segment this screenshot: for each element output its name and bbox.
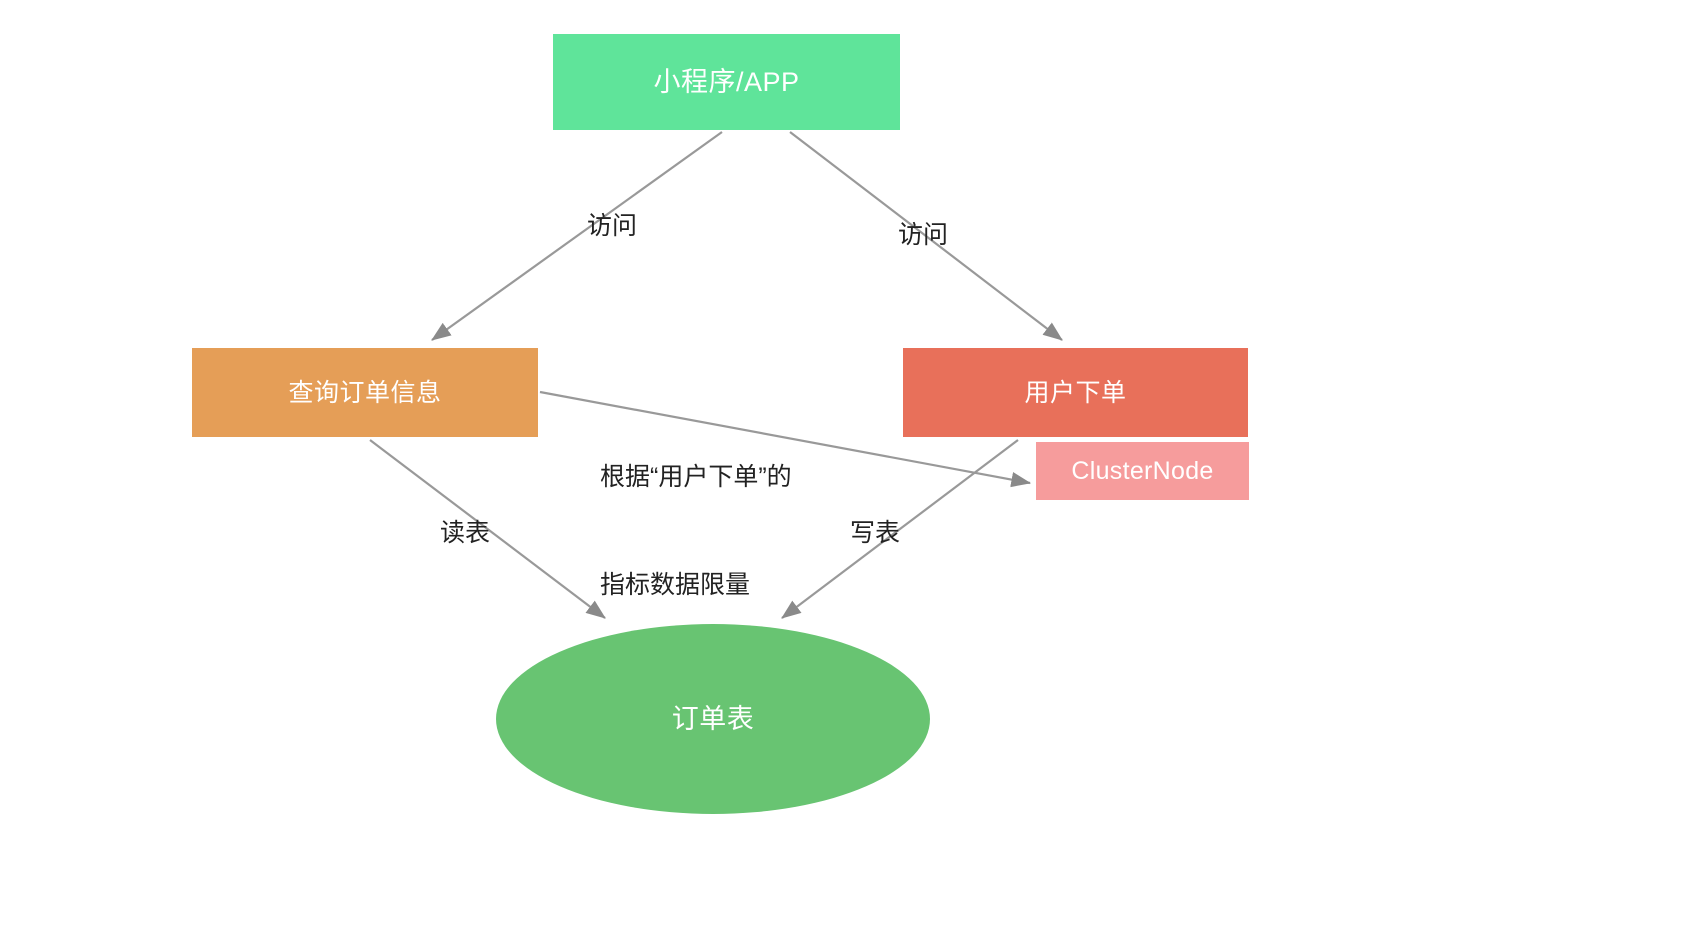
node-cluster-node[interactable]: ClusterNode bbox=[1036, 442, 1249, 500]
edge-app-to-query bbox=[432, 132, 722, 340]
edge-label-line-1: 根据“用户下单”的 bbox=[600, 459, 792, 495]
edge-label-app-to-query: 访问 bbox=[587, 208, 637, 244]
edge-label-query-to-clusternode: 根据“用户下单”的 指标数据限量 bbox=[600, 386, 792, 676]
edge-label-order-to-table: 写表 bbox=[850, 515, 900, 551]
node-app[interactable]: 小程序/APP bbox=[553, 34, 900, 130]
edge-label-line-2: 指标数据限量 bbox=[600, 567, 792, 603]
edge-label-query-to-table: 读表 bbox=[440, 515, 490, 551]
diagram-canvas: 小程序/APP 查询订单信息 用户下单 ClusterNode 订单表 访问 访… bbox=[0, 0, 1690, 928]
node-user-place-order[interactable]: 用户下单 bbox=[903, 348, 1248, 437]
edge-label-app-to-order: 访问 bbox=[898, 217, 948, 253]
node-query-order-info[interactable]: 查询订单信息 bbox=[192, 348, 538, 437]
